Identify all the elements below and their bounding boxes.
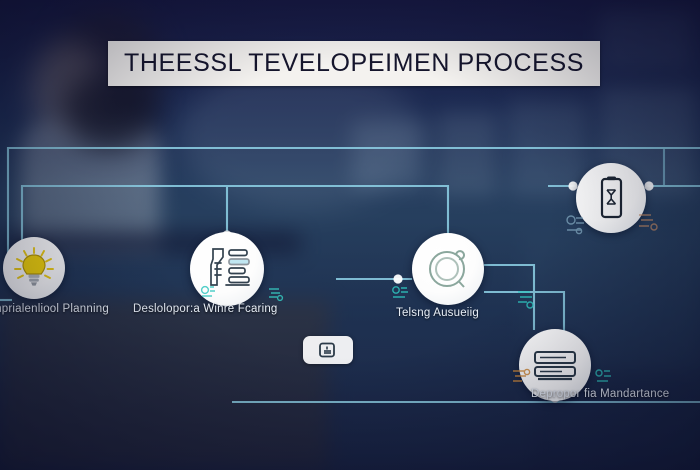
slide-canvas: THEESSL TEVELOPEIMEN PROCESS (0, 0, 700, 470)
vignette-overlay (0, 0, 700, 470)
